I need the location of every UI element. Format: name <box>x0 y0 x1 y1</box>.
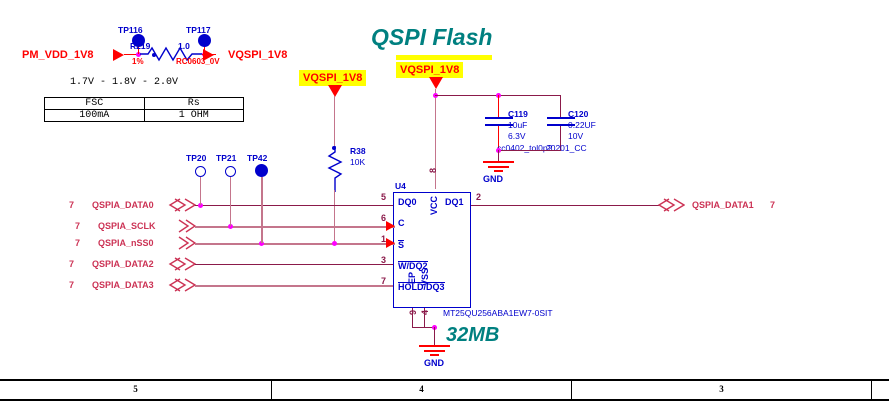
port-symbol-bidir-data3 <box>168 278 196 292</box>
net-flag-vqspi-1v8-right: VQSPI_1V8 <box>396 62 463 78</box>
junction-nss0-r38 <box>332 241 337 246</box>
wire-data3 <box>195 285 393 287</box>
table-header-rs: Rs <box>144 98 244 110</box>
refdes-u4: U4 <box>395 182 406 191</box>
net-flag-arrow-down-right <box>429 77 443 89</box>
wire-r38-bottom <box>334 190 335 241</box>
tp42-stem <box>261 177 263 243</box>
net-name-qspia-data0: QSPIA_DATA0 <box>92 201 154 210</box>
voltage-range-note: 1.7V - 1.8V - 2.0V <box>70 78 178 88</box>
fsc-rs-table: FSC Rs 100mA 1 OHM <box>44 97 244 122</box>
frame-zone-3-label: 3 <box>572 384 871 394</box>
wire-r38-top <box>334 96 335 148</box>
ic-capacity-note: 32MB <box>446 325 499 345</box>
net-name-qspia-nss0: QSPIA_nSS0 <box>98 239 154 248</box>
page-ref-sclk: 7 <box>75 222 80 231</box>
footprint-c119: cc0402_tol0p2 <box>497 144 552 153</box>
frame-zone-4-label: 4 <box>272 384 571 394</box>
refdes-r38: R38 <box>350 147 366 156</box>
refdes-r219: R219 <box>130 42 150 51</box>
net-flag-arrow-down-left <box>328 85 342 97</box>
schematic-sheet: PM_VDD_1V8 TP116 R219 1% 1.0 RC0603_0V T… <box>0 0 889 401</box>
net-flag-vqspi-1v8-left: VQSPI_1V8 <box>299 70 366 86</box>
pin-number-8: 8 <box>429 168 438 173</box>
pin-name-dq1: DQ1 <box>445 198 464 207</box>
pin-arrow-c <box>386 220 396 232</box>
page-ref-data2: 7 <box>69 260 74 269</box>
refdes-c119: C119 <box>508 110 528 119</box>
frame-zone-5-label: 5 <box>0 384 271 394</box>
testpoint-tp20 <box>195 166 206 177</box>
wire-nss0 <box>195 243 395 245</box>
port-symbol-out-nss0 <box>176 236 196 250</box>
tp20-stem <box>200 177 201 205</box>
ground-label-caps: GND <box>483 175 503 184</box>
pin-name-c: C <box>398 219 405 228</box>
port-symbol-bidir-data0 <box>168 198 196 212</box>
wire-data0 <box>195 205 393 206</box>
wire-sclk <box>195 226 395 228</box>
voltage-c119: 6.3V <box>508 132 526 141</box>
page-title: QSPI Flash <box>371 26 492 49</box>
sheet-frame-bottom: 5 4 3 <box>0 379 889 401</box>
resistor-pin-dot <box>152 53 156 57</box>
pin-number-5: 5 <box>381 193 386 202</box>
wire-data1 <box>471 205 659 206</box>
table-cell-fsc-value: 100mA <box>45 110 145 122</box>
value-r219: 1.0 <box>178 42 190 51</box>
resistor-r38-symbol <box>324 146 346 192</box>
testpoint-tp42 <box>255 164 268 177</box>
pin-number-4: 4 <box>421 310 430 315</box>
net-name-qspia-data3: QSPIA_DATA3 <box>92 281 154 290</box>
wire-ep-down <box>412 308 413 328</box>
testpoint-label-tp117: TP117 <box>186 26 211 35</box>
table-row: 100mA 1 OHM <box>45 110 244 122</box>
table-header-fsc: FSC <box>45 98 145 110</box>
pin-name-vcc: VCC <box>430 196 439 215</box>
testpoint-tp117 <box>198 34 211 47</box>
value-c119: 10uF <box>508 121 527 130</box>
net-name-qspia-sclk: QSPIA_SCLK <box>98 222 156 231</box>
table-cell-rs-value: 1 OHM <box>144 110 244 122</box>
net-flag-arrow-in <box>113 49 124 61</box>
wire-vcc-drop <box>435 89 436 189</box>
frame-zone-5: 5 <box>0 381 272 399</box>
net-name-qspia-data2: QSPIA_DATA2 <box>92 260 154 269</box>
value-r219-tolerance: 1% <box>132 58 144 66</box>
page-ref-data3: 7 <box>69 281 74 290</box>
page-ref-nss0: 7 <box>75 239 80 248</box>
r38-pin-dot <box>332 146 336 150</box>
value-r38: 10K <box>350 158 365 167</box>
wire-vss-down <box>424 308 425 328</box>
pin-name-ep: EP <box>408 272 417 284</box>
port-symbol-bidir-data2 <box>168 257 196 271</box>
net-flag-arrow-out <box>203 49 214 61</box>
page-ref-data0: 7 <box>69 201 74 210</box>
title-underline-highlight <box>396 55 492 60</box>
pin-name-dq0: DQ0 <box>398 198 417 207</box>
table-header-row: FSC Rs <box>45 98 244 110</box>
frame-zone-3: 3 <box>572 381 872 399</box>
pin-name-s: S <box>398 240 404 250</box>
ic-part-number: MT25QU256ABA1EW7-0SIT <box>443 309 553 318</box>
port-symbol-bidir-data1 <box>657 198 685 212</box>
testpoint-label-tp21: TP21 <box>216 154 236 163</box>
pin-arrow-s <box>386 237 396 249</box>
testpoint-tp21 <box>225 166 236 177</box>
frame-zone-edge <box>872 381 889 399</box>
value-c120: 0.22UF <box>568 121 596 130</box>
pin-number-9: 9 <box>409 310 418 315</box>
port-symbol-out-sclk <box>176 219 196 233</box>
net-label-vqspi-1v8-a: VQSPI_1V8 <box>228 50 287 61</box>
testpoint-label-tp20: TP20 <box>186 154 206 163</box>
frame-zone-4: 4 <box>272 381 572 399</box>
wire-data2 <box>195 264 393 265</box>
footprint-c120: 20201_CC <box>546 144 587 153</box>
wire-cap-gnd-rail <box>498 150 561 151</box>
refdes-c120: C120 <box>568 110 588 119</box>
tp21-stem <box>230 177 231 226</box>
page-ref-data1: 7 <box>770 201 775 210</box>
pin-name-vss: VSS <box>421 268 430 286</box>
ground-label-ic: GND <box>424 359 444 368</box>
net-name-qspia-data1: QSPIA_DATA1 <box>692 201 754 210</box>
voltage-c120: 10V <box>568 132 583 141</box>
pin-number-2: 2 <box>476 193 481 202</box>
testpoint-label-tp42: TP42 <box>247 154 267 163</box>
net-label-pm-vdd-1v8: PM_VDD_1V8 <box>22 50 94 61</box>
